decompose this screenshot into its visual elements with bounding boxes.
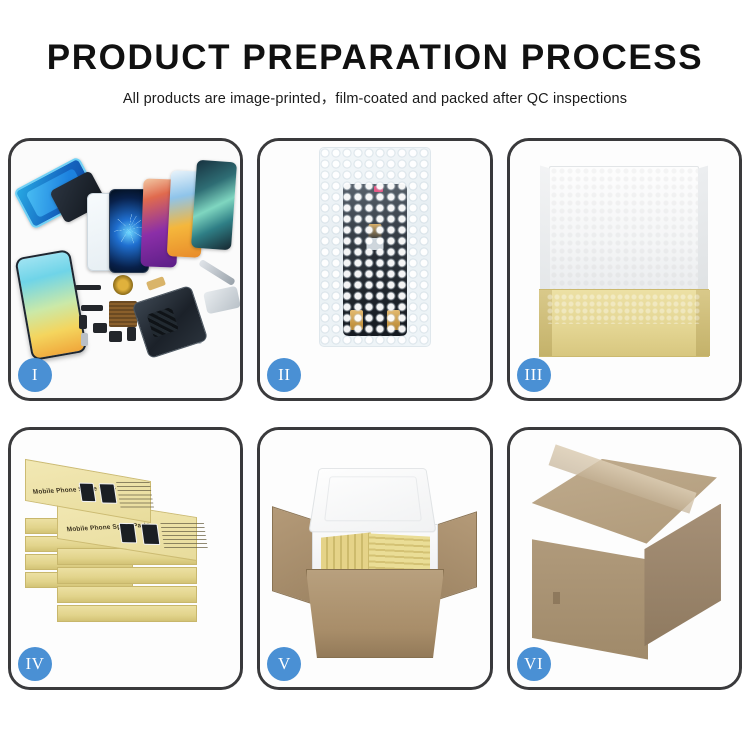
box-stack-group: Mobile Phone Spare Parts Mobile Phone Sp…: [23, 456, 233, 636]
ribbon-part-icon: [81, 305, 103, 311]
step-panel-6: VI: [507, 427, 742, 690]
camera-part-icon: [109, 331, 122, 342]
stacked-box: [57, 605, 197, 622]
step-1-image: [11, 141, 240, 398]
process-step-grid: I II: [8, 138, 742, 690]
box-screen-graphic: [79, 483, 97, 503]
foam-texture: [550, 167, 698, 297]
sim-tray-icon: [81, 333, 88, 346]
step-panel-4: Mobile Phone Spare Parts Mobile Phone Sp…: [8, 427, 243, 690]
carton-seam: [553, 643, 560, 654]
bubble-texture: [320, 148, 430, 346]
box-spec-lines: [116, 481, 154, 507]
box-label: Mobile Phone Spare Parts: [66, 522, 151, 534]
header: PRODUCT PREPARATION PROCESS All products…: [0, 0, 750, 108]
flex-cable-icon: [146, 276, 166, 291]
speaker-part-icon: [75, 285, 101, 290]
box-screen-graphic: [141, 523, 161, 545]
step-badge-6: VI: [517, 647, 551, 681]
step-panel-1: I: [8, 138, 243, 401]
step-badge-1: I: [18, 358, 52, 392]
bubble-wrap-bag-icon: [319, 147, 431, 347]
step-panel-3: III: [507, 138, 742, 401]
step-3-image: [510, 141, 739, 398]
styrofoam-lid-icon: [309, 468, 437, 532]
grey-bubble-wrap-icon: [547, 294, 701, 324]
box-screen-graphic: [119, 523, 138, 544]
step-6-image: [510, 430, 739, 687]
page-title: PRODUCT PREPARATION PROCESS: [0, 38, 750, 78]
box-spec-lines: [160, 522, 208, 548]
teal-phone-icon: [191, 160, 237, 251]
yellow-box-icon: [539, 289, 709, 357]
button-part-icon: [93, 323, 107, 333]
page-subtitle: All products are image-printed，film-coat…: [0, 87, 750, 108]
step-badge-4: IV: [18, 647, 52, 681]
foam-sheet-icon: [549, 166, 699, 298]
step-2-image: [260, 141, 489, 398]
step-5-image: [260, 430, 489, 687]
box-screen-graphic: [99, 483, 118, 504]
bracket-part-icon: [79, 315, 87, 329]
product-preparation-infographic: PRODUCT PREPARATION PROCESS All products…: [0, 0, 750, 750]
step-panel-5: V: [257, 427, 492, 690]
carton-front-face: [532, 539, 649, 659]
carton-seam: [553, 592, 560, 604]
stacked-box: [57, 567, 197, 584]
coil-part-icon: [113, 275, 133, 295]
step-panel-2: II: [257, 138, 492, 401]
carton-body-icon: [306, 569, 444, 658]
step-badge-3: III: [517, 358, 551, 392]
step-4-image: Mobile Phone Spare Parts Mobile Phone Sp…: [11, 430, 240, 687]
battery-part-icon: [127, 327, 136, 341]
stacked-box: [57, 586, 197, 603]
